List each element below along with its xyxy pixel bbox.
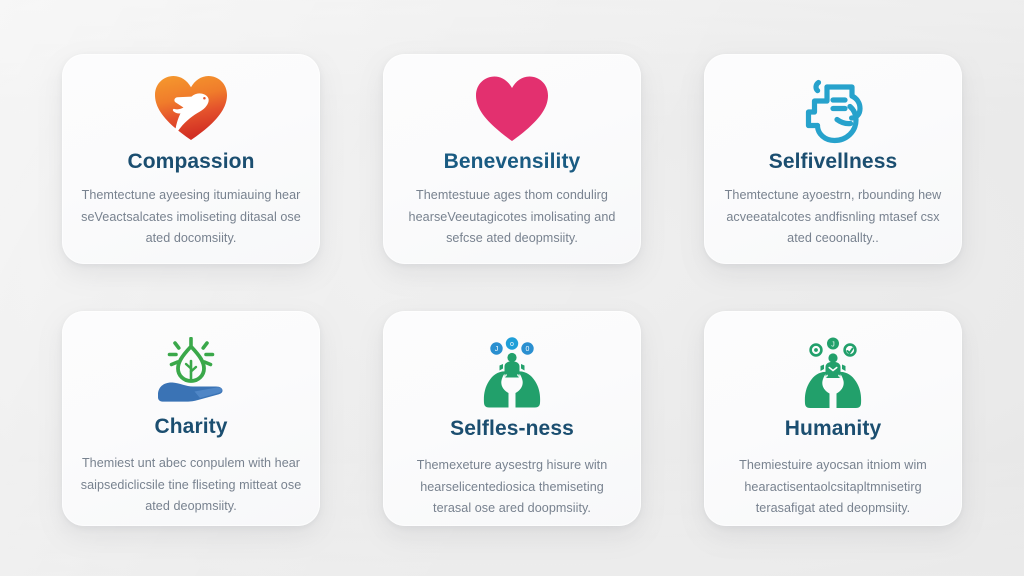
card-description: Themtestuue ages thom condulirg hearseVe… <box>397 185 627 250</box>
card-title: Selfivellness <box>769 150 898 173</box>
card-description: Themiestuire ayocsan itniom wim hearacti… <box>718 455 948 520</box>
feature-card-humanity[interactable]: J Humanity Themiestuire ayocsan itniom w… <box>704 311 962 526</box>
card-description: Themtectune ayeesing itumiauing hear seV… <box>76 185 306 250</box>
feature-card-benevensility[interactable]: Benevensility Themtestuue ages thom cond… <box>383 54 641 264</box>
hand-card-icon <box>795 72 871 146</box>
feature-card-compassion[interactable]: Compassion Themtectune ayeesing itumiaui… <box>62 54 320 264</box>
card-title: Humanity <box>785 417 881 440</box>
page-background: Compassion Themtectune ayeesing itumiaui… <box>0 0 1024 576</box>
heart-icon <box>474 72 550 146</box>
svg-text:J: J <box>495 346 499 353</box>
svg-text:o: o <box>510 341 514 348</box>
feature-card-grid: Compassion Themtectune ayeesing itumiaui… <box>62 54 962 530</box>
card-title: Charity <box>154 415 227 438</box>
feature-card-charity[interactable]: Charity Themiest unt abec conpulem with … <box>62 311 320 526</box>
card-description: Themexeture aysestrg hisure witn hearsel… <box>397 455 627 520</box>
svg-text:0: 0 <box>526 346 530 353</box>
card-description: Themtectune ayoestrn, rbounding hew acve… <box>718 185 948 250</box>
hands-person-icon: J o 0 <box>473 337 551 411</box>
heart-dove-icon <box>154 72 228 146</box>
hands-people-icon: J <box>794 337 872 411</box>
card-title: Compassion <box>127 150 254 173</box>
svg-text:J: J <box>831 341 835 348</box>
card-description: Themiest unt abec conpulem with hear sai… <box>76 453 306 518</box>
feature-card-selflessness[interactable]: J o 0 Selfles-ness Themexeture aysestrg … <box>383 311 641 526</box>
hand-leaf-icon <box>150 337 232 409</box>
card-title: Selfles-ness <box>450 417 574 440</box>
card-title: Benevensility <box>444 150 581 173</box>
feature-card-selfivellness[interactable]: Selfivellness Themtectune ayoestrn, rbou… <box>704 54 962 264</box>
